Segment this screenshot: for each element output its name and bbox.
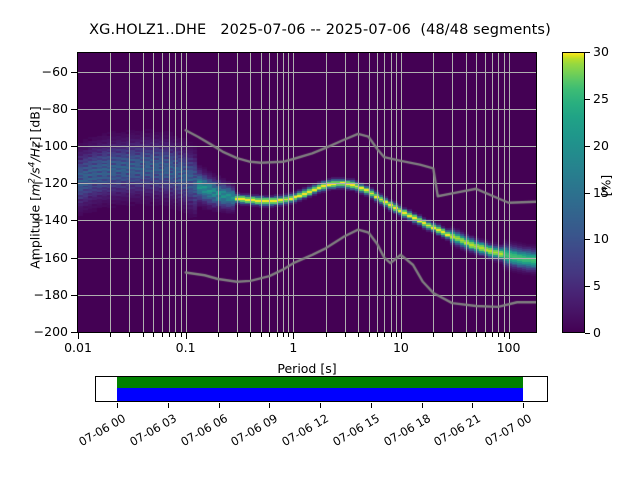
x-tick-minor [358,333,359,337]
x-tick-minor [277,333,278,337]
x-tick-minor [476,333,477,337]
colorbar-tick-label: 0 [593,325,601,340]
y-tick [71,258,77,259]
timeline-tick [523,403,524,408]
x-tick-minor [283,333,284,337]
timeline-tick [269,403,270,408]
x-axis-label: Period [s] [77,361,537,376]
coverage-band-blue [117,388,523,401]
x-tick-minor [288,333,289,337]
colorbar[interactable] [562,52,585,333]
timeline-tick [472,403,473,408]
y-tick [71,332,77,333]
colorbar-tick-label: 30 [593,44,609,59]
x-tick-major [509,333,510,339]
y-axis-label: Amplitude [m2/s4/Hz] [dB] [27,48,42,328]
x-tick-label: 100 [479,340,539,355]
x-tick-minor [175,333,176,337]
timeline-tick [422,403,423,408]
x-tick-minor [169,333,170,337]
y-tick [71,220,77,221]
x-tick-minor [261,333,262,337]
colorbar-tick [585,286,590,287]
x-tick-minor [396,333,397,337]
x-tick-label: 1 [263,340,323,355]
x-tick-minor [129,333,130,337]
x-tick-major [401,333,402,339]
x-tick-minor [466,333,467,337]
x-tick-major [78,333,79,339]
colorbar-tick-label: 5 [593,278,601,293]
timeline-tick [320,403,321,408]
x-tick-major [186,333,187,339]
x-tick-label: 0.1 [156,340,216,355]
x-tick-minor [162,333,163,337]
x-tick-minor [504,333,505,337]
ppsd-axes[interactable] [77,52,537,333]
y-axis-label-suffix: ] [dB] [28,106,43,141]
x-tick-minor [377,333,378,337]
ppsd-figure: XG.HOLZ1..DHE 2025-07-06 -- 2025-07-06 (… [0,0,640,480]
colorbar-tick [585,239,590,240]
y-tick [71,183,77,184]
colorbar-tick [585,193,590,194]
colorbar-tick [585,333,590,334]
x-tick-minor [433,333,434,337]
y-axis-unit-m: m [28,184,43,196]
x-tick-minor [237,333,238,337]
x-tick-minor [181,333,182,337]
y-axis-label-prefix: Amplitude [ [28,196,43,269]
colorbar-tick-label: 25 [593,91,609,106]
x-tick-minor [143,333,144,337]
x-tick-minor [492,333,493,337]
x-tick-minor [326,333,327,337]
timeline-tick [219,403,220,408]
x-tick-minor [452,333,453,337]
y-axis-unit-per-hz: /Hz [28,141,43,161]
x-tick-minor [391,333,392,337]
y-tick [71,109,77,110]
y-tick [71,72,77,73]
x-tick-minor [153,333,154,337]
y-axis-unit-exp2: 2 [27,178,37,184]
coverage-band-green [117,377,523,388]
noise-model-curves [78,53,536,332]
x-tick-minor [345,333,346,337]
data-coverage-timeline[interactable] [95,376,548,402]
timeline-tick [371,403,372,408]
y-axis-unit-exp4: 4 [27,162,37,168]
x-tick-minor [110,333,111,337]
timeline-tick [117,403,118,408]
colorbar-label: [%] [599,126,614,246]
x-tick-minor [250,333,251,337]
x-tick-major [293,333,294,339]
y-tick [71,146,77,147]
x-tick-minor [269,333,270,337]
x-tick-label: 0.01 [48,340,108,355]
x-tick-label: 10 [371,340,431,355]
x-tick-minor [485,333,486,337]
colorbar-tick [585,146,590,147]
x-tick-minor [218,333,219,337]
timeline-tick [168,403,169,408]
y-tick [71,295,77,296]
y-axis-unit-per-s: /s [28,167,43,178]
colorbar-tick [585,52,590,53]
page-title: XG.HOLZ1..DHE 2025-07-06 -- 2025-07-06 (… [0,22,640,38]
x-tick-minor [498,333,499,337]
x-tick-minor [369,333,370,337]
colorbar-tick [585,99,590,100]
x-tick-minor [384,333,385,337]
